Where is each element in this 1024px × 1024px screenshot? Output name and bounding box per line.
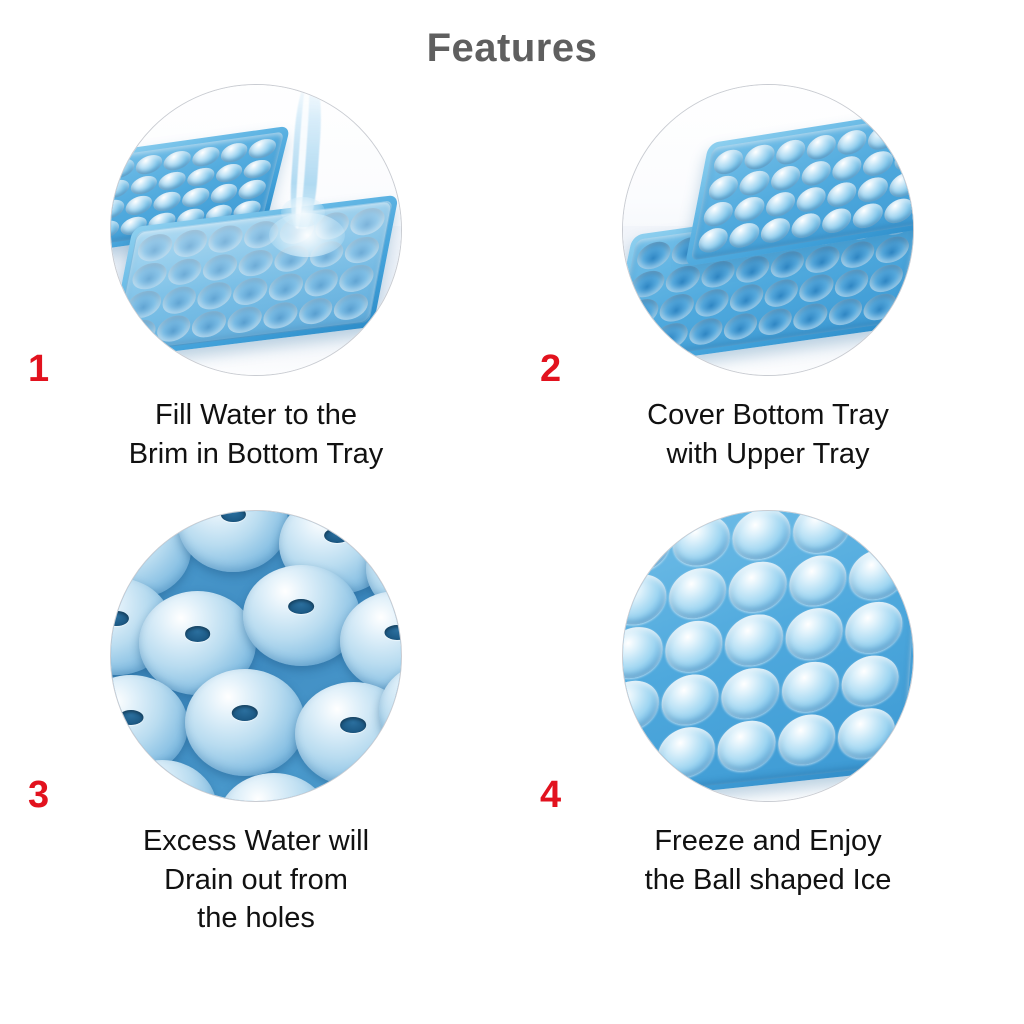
photo-closeup-domes-with-drain-holes [111, 511, 401, 801]
feature-panel-2: 2 Cover Bottom Tray with Upper Tray [512, 78, 1024, 508]
caption-line: Drain out from [0, 861, 512, 900]
step-caption-1: Fill Water to the Brim in Bottom Tray [0, 396, 512, 473]
step-caption-2: Cover Bottom Tray with Upper Tray [512, 396, 1024, 473]
caption-line: Fill Water to the [0, 396, 512, 435]
caption-line: Cover Bottom Tray [512, 396, 1024, 435]
caption-line: Brim in Bottom Tray [0, 435, 512, 474]
photo-tray-with-frozen-ice-balls [623, 511, 913, 801]
photo-frame-4 [622, 510, 914, 802]
photo-frame-2 [622, 84, 914, 376]
caption-line: Freeze and Enjoy [512, 822, 1024, 861]
step-number-3: 3 [28, 776, 49, 814]
step-number-1: 1 [28, 350, 49, 388]
photo-frame-3 [110, 510, 402, 802]
step-caption-3: Excess Water will Drain out from the hol… [0, 822, 512, 938]
step-number-4: 4 [540, 776, 561, 814]
photo-covering-bottom-tray-with-upper-tray [623, 85, 913, 375]
caption-line: the holes [0, 899, 512, 938]
features-grid: 1 Fill Water to the Brim in Bottom Tray [0, 78, 1024, 1008]
step-caption-4: Freeze and Enjoy the Ball shaped Ice [512, 822, 1024, 899]
feature-panel-1: 1 Fill Water to the Brim in Bottom Tray [0, 78, 512, 508]
caption-line: with Upper Tray [512, 435, 1024, 474]
caption-line: the Ball shaped Ice [512, 861, 1024, 900]
features-infographic: Features [0, 0, 1024, 1024]
caption-line: Excess Water will [0, 822, 512, 861]
page-title: Features [0, 28, 1024, 68]
step-number-2: 2 [540, 350, 561, 388]
feature-panel-4: 4 Freeze and Enjoy the Ball shaped Ice [512, 508, 1024, 978]
feature-panel-3: 3 Excess Water will Drain out from the h… [0, 508, 512, 978]
photo-frame-1 [110, 84, 402, 376]
photo-filling-water-into-bottom-tray [111, 85, 401, 375]
